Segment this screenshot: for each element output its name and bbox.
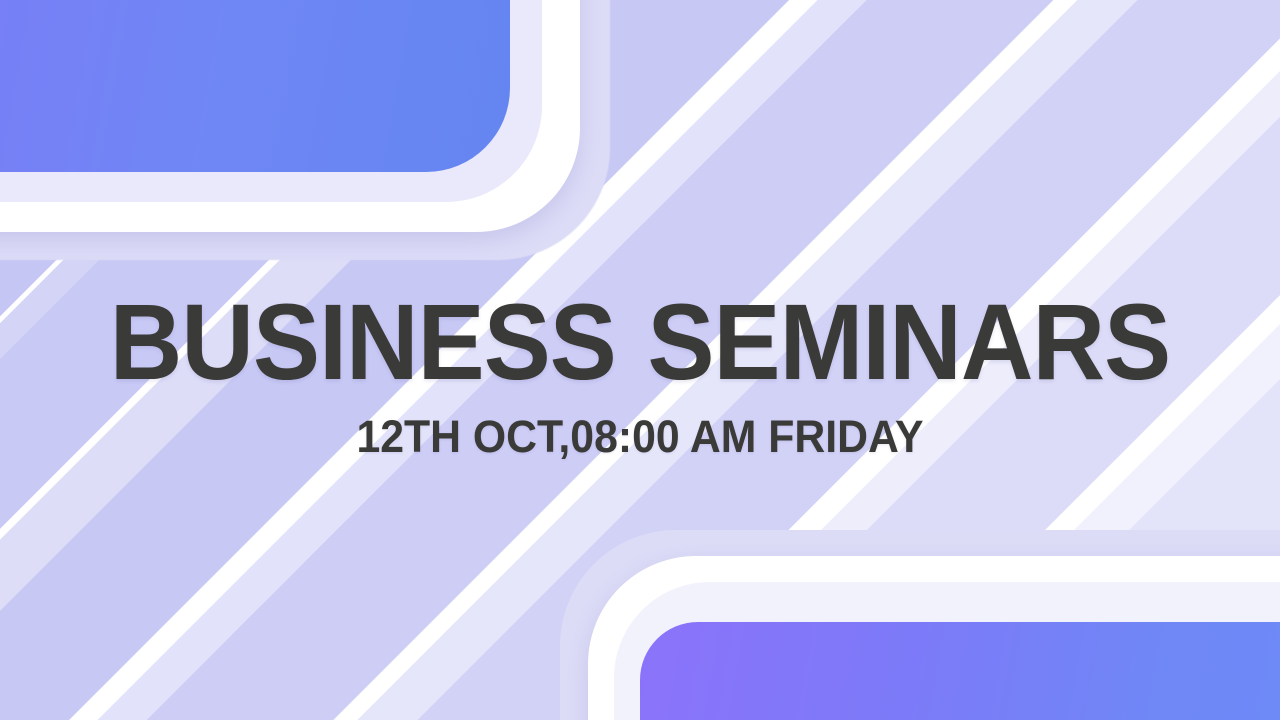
event-banner: BUSINESSSEMINARS 12TH OCT,08:00 AM FRIDA… [0, 0, 1280, 720]
event-subtitle: 12TH OCT,08:00 AM FRIDAY [32, 414, 1248, 459]
event-title-word-two: SEMINARS [647, 281, 1170, 402]
event-title-word-one: BUSINESS [110, 281, 616, 402]
event-title: BUSINESSSEMINARS [45, 288, 1235, 396]
top-left-gradient-panel [0, 0, 510, 172]
bottom-right-gradient-panel [640, 622, 1280, 720]
banner-text-block: BUSINESSSEMINARS 12TH OCT,08:00 AM FRIDA… [0, 288, 1280, 459]
